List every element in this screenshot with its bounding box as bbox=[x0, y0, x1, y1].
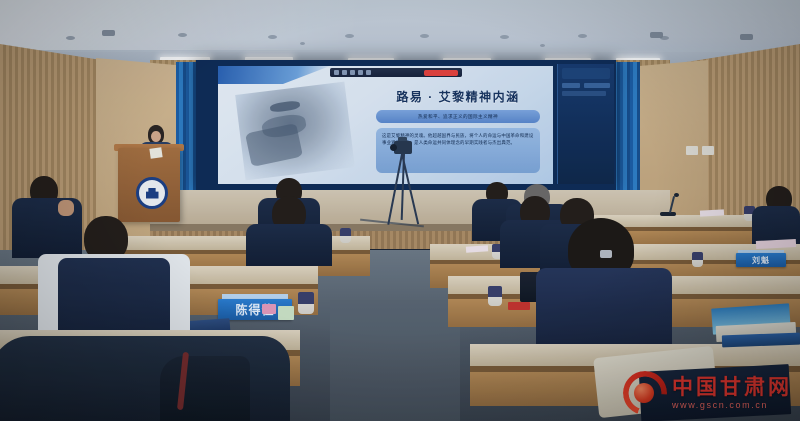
ceiling-downlight bbox=[578, 34, 587, 38]
name-placard-2: 刘魁 bbox=[736, 253, 786, 267]
attendee-torso bbox=[536, 268, 672, 354]
attendee-vest bbox=[58, 258, 170, 338]
conference-hall-photo: 路易 · 艾黎精神内涵 热爱和平、追求正义的国际主义精神 这是艾黎精神的灵魂。他… bbox=[0, 0, 800, 421]
ceiling-downlight bbox=[268, 35, 277, 39]
ceiling-speaker bbox=[740, 34, 753, 40]
share-screen-icon[interactable] bbox=[350, 70, 355, 75]
ceiling-sensor bbox=[540, 44, 545, 47]
aisle-carpet bbox=[330, 300, 460, 421]
name-placard-2-label: 刘魁 bbox=[752, 255, 770, 266]
slide-corner-graphic bbox=[218, 66, 330, 84]
watermark-brand: 中国甘肃网 bbox=[672, 377, 792, 398]
hair-clip bbox=[600, 250, 612, 258]
paper-cup bbox=[340, 228, 351, 243]
desk-row-3 bbox=[120, 236, 370, 250]
participants-icon[interactable] bbox=[358, 70, 363, 75]
ceiling-downlight bbox=[178, 33, 187, 37]
ceiling-speaker bbox=[650, 32, 663, 38]
ceiling-speaker bbox=[102, 30, 115, 36]
ceiling-downlight bbox=[345, 34, 354, 38]
paper-cup bbox=[488, 286, 502, 306]
paper-cup bbox=[298, 292, 314, 314]
microphone-head-icon bbox=[674, 193, 679, 197]
side-panel-header bbox=[562, 68, 610, 79]
watermark-url: www.gscn.com.cn bbox=[672, 400, 792, 410]
attendee-hand bbox=[58, 200, 74, 216]
chat-icon[interactable] bbox=[366, 70, 371, 75]
microphone-base bbox=[660, 212, 676, 216]
desk-box bbox=[262, 304, 276, 314]
wall-switch-panel[interactable] bbox=[686, 146, 698, 155]
ceiling-glare bbox=[0, 0, 800, 50]
watermark: 中国甘肃网 www.gscn.com.cn bbox=[623, 371, 792, 415]
side-panel-row[interactable] bbox=[562, 83, 580, 88]
red-stationery bbox=[508, 302, 530, 310]
speech-notes bbox=[149, 147, 162, 159]
end-meeting-button[interactable] bbox=[424, 70, 458, 76]
gscn-logo-icon bbox=[623, 371, 667, 415]
camera-lens-icon bbox=[390, 144, 397, 151]
attendee-torso bbox=[246, 224, 332, 266]
slide-subtitle-pill: 热爱和平、追求正义的国际主义精神 bbox=[376, 110, 540, 123]
wall-outlet-panel[interactable] bbox=[702, 146, 714, 155]
presentation-slide: 路易 · 艾黎精神内涵 热爱和平、追求正义的国际主义精神 这是艾黎精神的灵魂。他… bbox=[218, 66, 553, 184]
paper-cup bbox=[692, 252, 703, 267]
side-panel-row[interactable] bbox=[584, 83, 610, 88]
desk-paper bbox=[700, 209, 724, 216]
ceiling-downlight bbox=[66, 36, 75, 40]
meeting-toolbar[interactable] bbox=[330, 68, 462, 77]
side-panel-row[interactable] bbox=[562, 91, 606, 96]
ceiling-downlight bbox=[420, 34, 429, 38]
institutional-emblem-icon bbox=[136, 177, 168, 209]
foreground-chair-back bbox=[160, 356, 250, 421]
ceiling-downlight bbox=[500, 35, 509, 39]
slide-title: 路易 · 艾黎精神内涵 bbox=[368, 88, 548, 105]
speaker-face bbox=[151, 131, 161, 142]
ceiling-sensor bbox=[300, 42, 305, 45]
camera-icon[interactable] bbox=[342, 70, 347, 75]
meeting-side-panel[interactable] bbox=[557, 64, 614, 184]
desk-box bbox=[278, 306, 294, 320]
microphone-icon[interactable] bbox=[334, 70, 339, 75]
